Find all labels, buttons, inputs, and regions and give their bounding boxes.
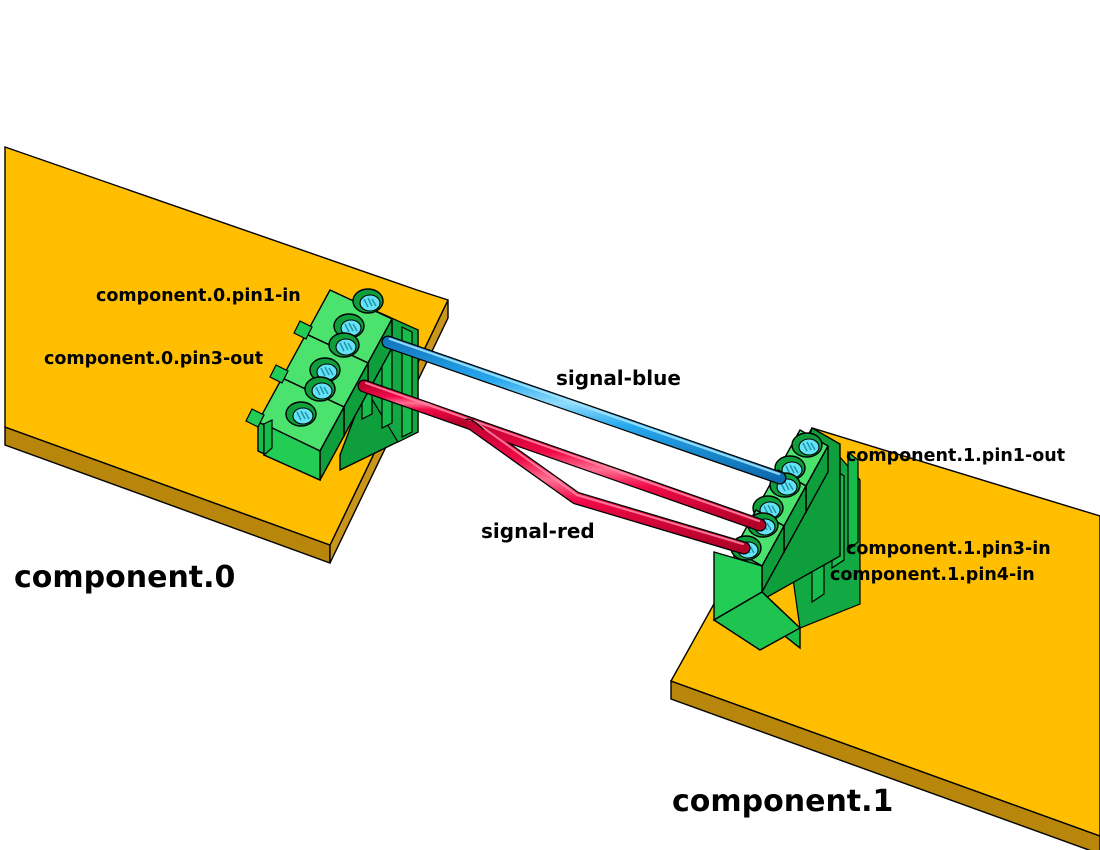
c1-b1-screw-1[interactable] — [792, 433, 822, 457]
c0-b3-screw-1[interactable] — [305, 377, 335, 401]
label-component-0-pin3-out: component.0.pin3-out — [44, 349, 263, 369]
c0-b1-screw-1[interactable] — [353, 289, 383, 313]
c0-b2-screw-1[interactable] — [329, 333, 359, 357]
scene-svg: component.0.pin1-in component.0.pin3-out… — [0, 0, 1100, 850]
label-component-0-pin1-in: component.0.pin1-in — [96, 286, 301, 306]
label-board-component-0: component.0 — [14, 560, 235, 595]
wiring-diagram-canvas: component.0.pin1-in component.0.pin3-out… — [0, 0, 1100, 850]
connector-0-base-foot — [264, 420, 272, 455]
label-component-1-pin3-in: component.1.pin3-in — [846, 539, 1051, 559]
wire-signal-blue-gloss — [390, 339, 779, 474]
label-signal-blue: signal-blue — [556, 366, 681, 390]
label-component-1-pin4-in: component.1.pin4-in — [830, 565, 1035, 585]
c0-b3-screw-2[interactable] — [286, 402, 316, 426]
label-signal-red: signal-red — [481, 519, 595, 543]
label-board-component-1: component.1 — [672, 784, 893, 819]
label-component-1-pin1-out: component.1.pin1-out — [846, 446, 1065, 466]
